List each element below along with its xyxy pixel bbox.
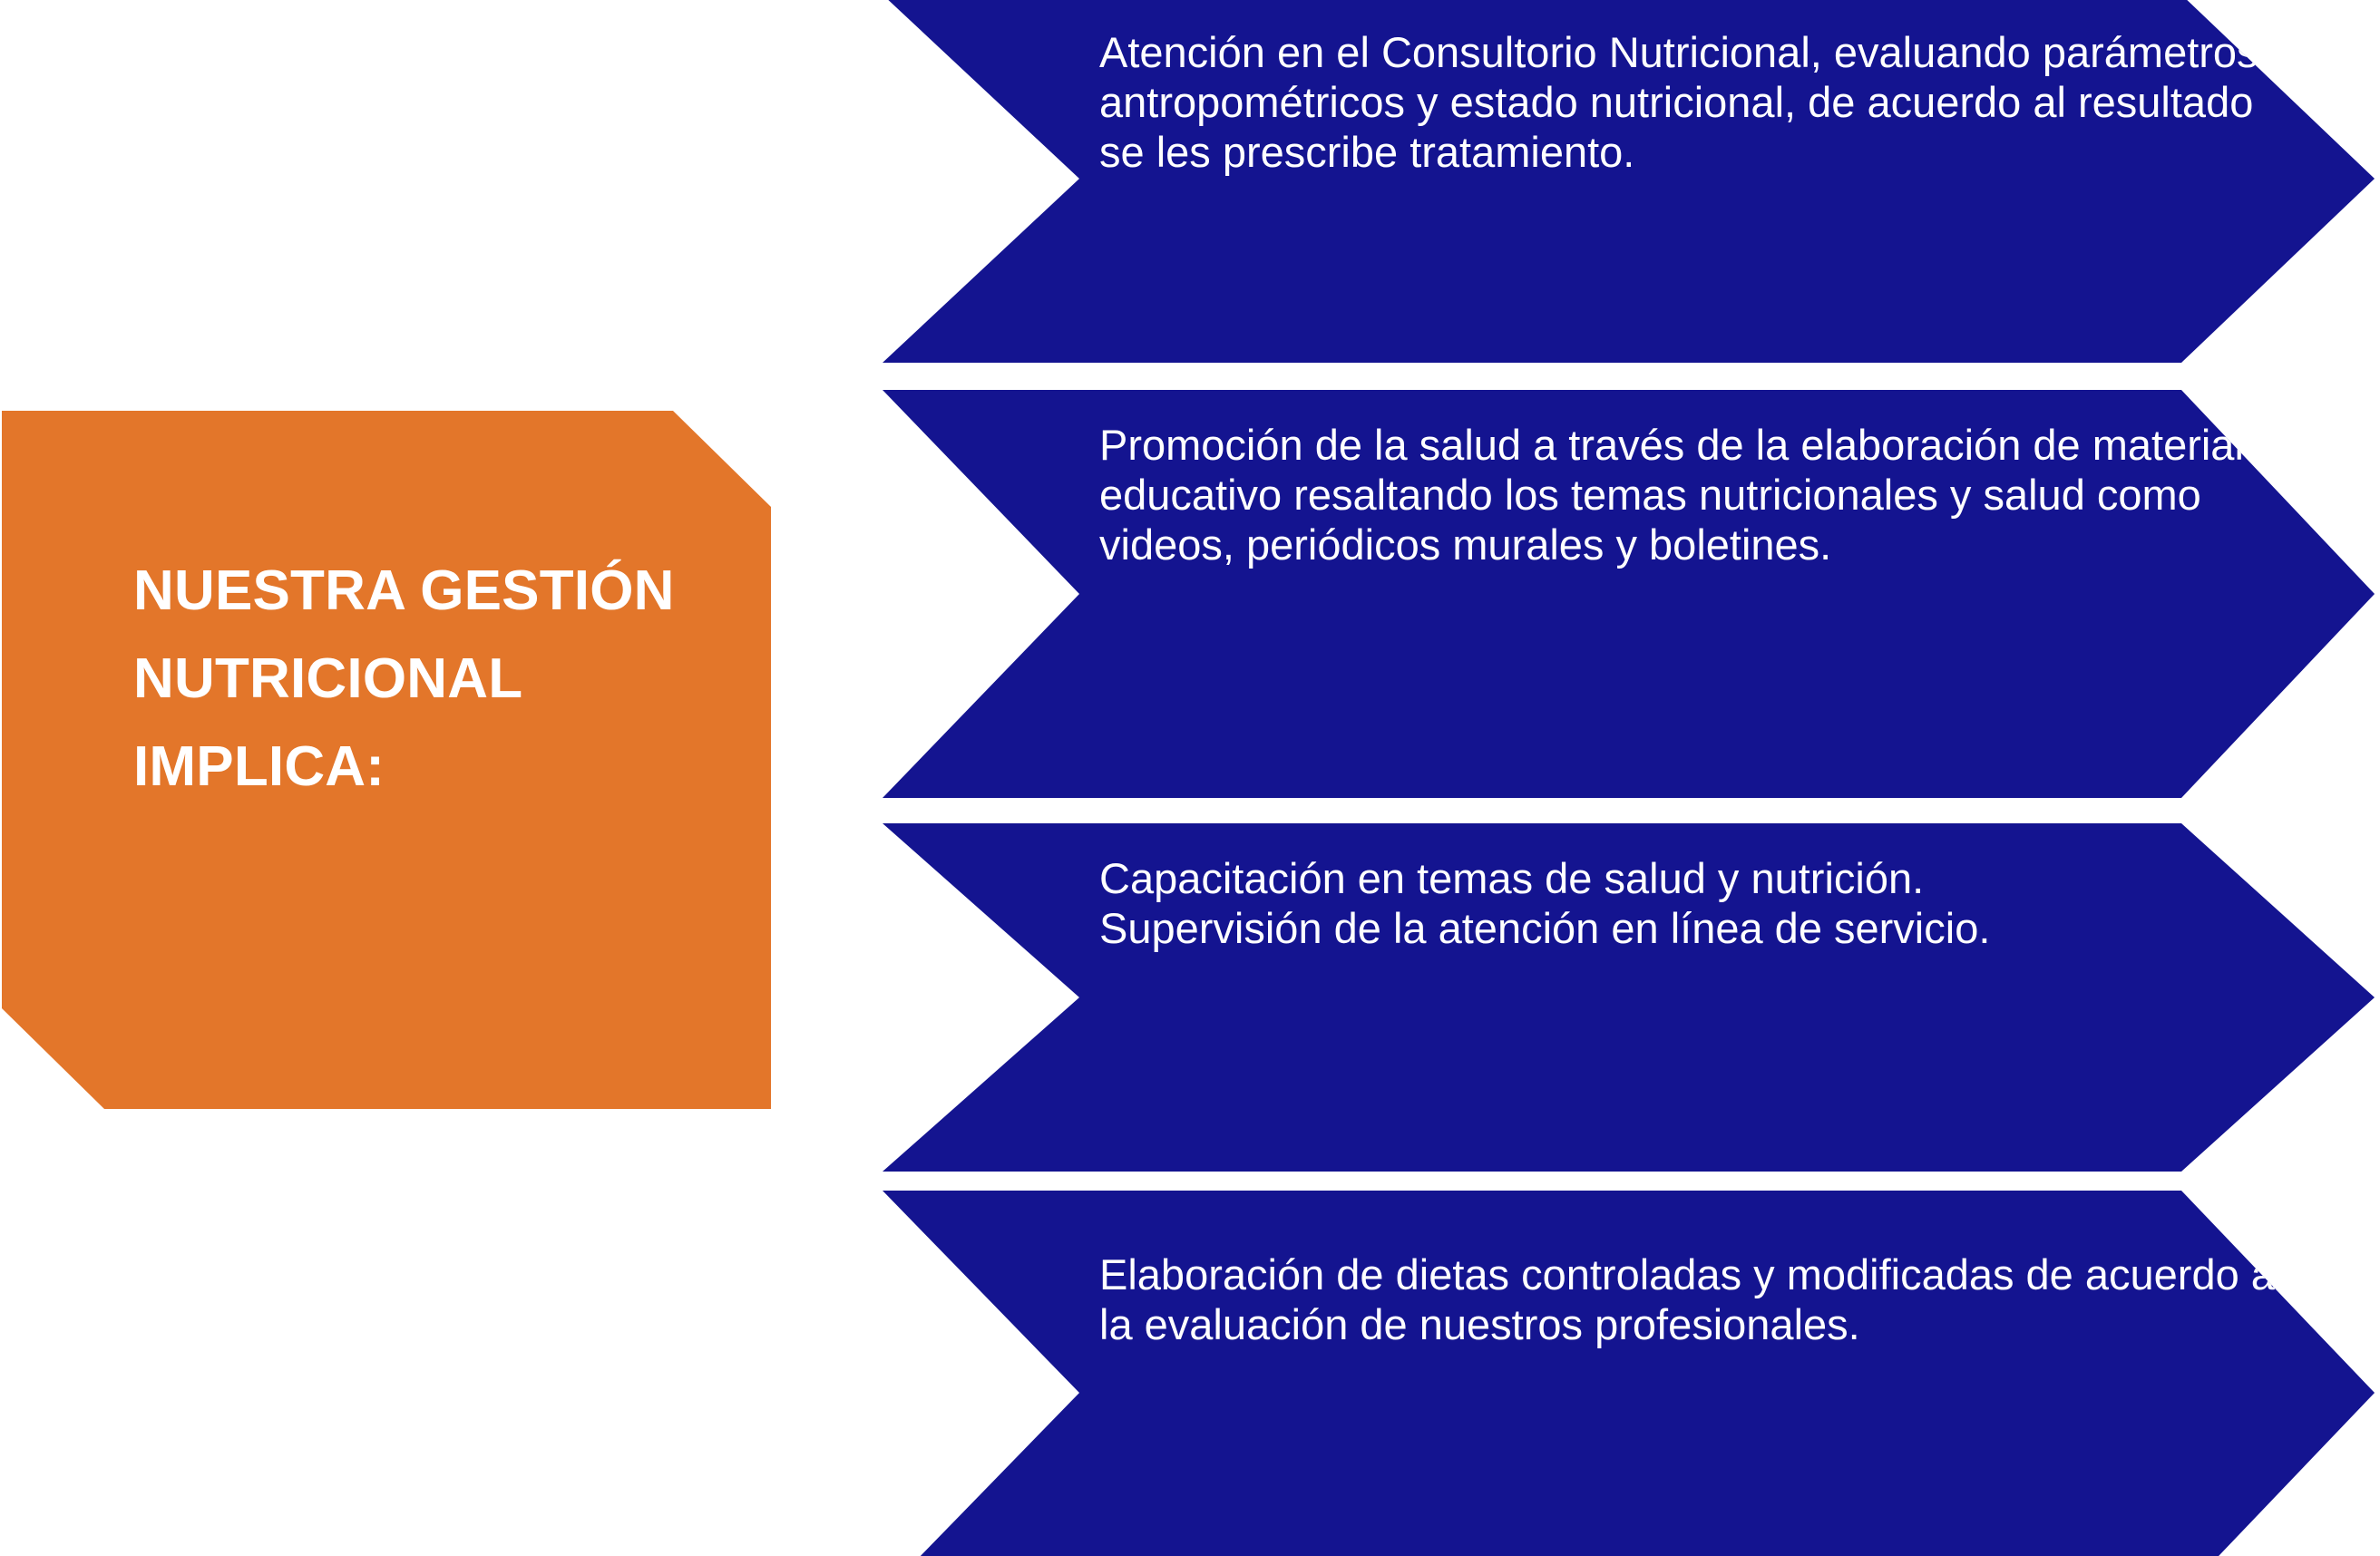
- chevron-item-1: Atención en el Consultorio Nutricional, …: [883, 0, 2375, 363]
- chevron-item-3: Capacitación en temas de salud y nutrici…: [883, 823, 2375, 1172]
- chevron-item-1-label: Atención en el Consultorio Nutricional, …: [1099, 27, 2287, 177]
- diagram-canvas: NUESTRA GESTIÓN NUTRICIONAL IMPLICA: Ate…: [0, 0, 2380, 1556]
- chevron-item-4-label: Elaboración de dietas controladas y modi…: [1099, 1250, 2287, 1349]
- title-block: NUESTRA GESTIÓN NUTRICIONAL IMPLICA:: [2, 411, 771, 1109]
- chevron-item-2-label: Promoción de la salud a través de la ela…: [1099, 420, 2287, 569]
- chevron-item-2: Promoción de la salud a través de la ela…: [883, 390, 2375, 798]
- chevron-item-3-label: Capacitación en temas de salud y nutrici…: [1099, 853, 2287, 953]
- chevron-item-4: Elaboración de dietas controladas y modi…: [883, 1191, 2375, 1556]
- title-block-label: NUESTRA GESTIÓN NUTRICIONAL IMPLICA:: [133, 547, 714, 811]
